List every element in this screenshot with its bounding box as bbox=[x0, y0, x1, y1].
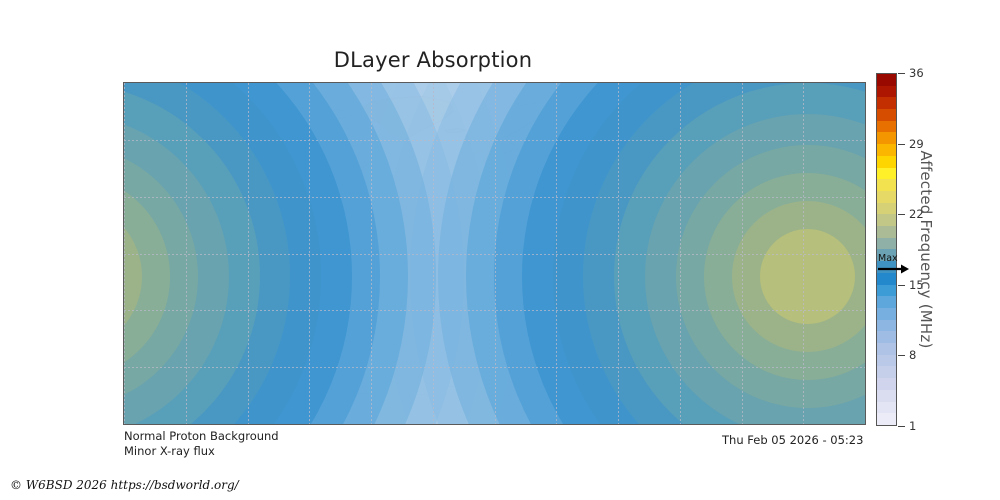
coastline bbox=[838, 320, 861, 341]
colorbar-tick bbox=[898, 214, 905, 215]
footer-credit: © W6BSD 2026 https://bsdworld.org/ bbox=[10, 478, 239, 492]
coastline bbox=[322, 110, 355, 121]
coastline bbox=[690, 244, 713, 265]
page-title: DLayer Absorption bbox=[0, 48, 866, 72]
coastline bbox=[762, 168, 793, 195]
colorbar-segment bbox=[877, 97, 896, 109]
colorbar-segment bbox=[877, 402, 896, 414]
coastline bbox=[517, 102, 540, 106]
colorbar-segment bbox=[877, 203, 896, 215]
colorbar-segment bbox=[877, 214, 896, 226]
colorbar-segment bbox=[877, 156, 896, 168]
colorbar-segment bbox=[877, 320, 896, 332]
coastline bbox=[659, 237, 663, 243]
gridline-meridian bbox=[865, 83, 866, 424]
colorbar-tick bbox=[898, 355, 905, 356]
coastline bbox=[445, 129, 466, 133]
coastline bbox=[474, 149, 482, 155]
colorbar-segment bbox=[877, 366, 896, 378]
colorbar-segment bbox=[877, 191, 896, 203]
coastline bbox=[320, 210, 341, 216]
colorbar-max-marker: Max bbox=[877, 254, 927, 280]
coastline bbox=[604, 113, 623, 119]
colorbar-segment bbox=[877, 144, 896, 156]
colorbar-segment bbox=[877, 238, 896, 250]
coastline bbox=[742, 252, 752, 263]
colorbar-max-label: Max bbox=[877, 254, 927, 264]
colorbar-tick bbox=[898, 73, 905, 74]
coastline bbox=[719, 246, 740, 259]
colorbar-segment bbox=[877, 226, 896, 238]
dlayer-absorption-plot: DLayer Absorption 1815222936 Affected Fr… bbox=[0, 0, 1000, 500]
colorbar-segment bbox=[877, 296, 896, 308]
colorbar[interactable]: 1815222936 bbox=[876, 73, 897, 426]
map-canvas bbox=[124, 83, 865, 424]
coastline bbox=[243, 106, 276, 114]
coastline bbox=[742, 219, 754, 240]
world-map[interactable] bbox=[123, 82, 866, 425]
colorbar-segment bbox=[877, 390, 896, 402]
coastline bbox=[727, 274, 809, 327]
timestamp: Thu Feb 05 2026 - 05:23 bbox=[722, 433, 863, 447]
coastline bbox=[361, 96, 454, 140]
colorbar-gradient bbox=[876, 73, 897, 426]
colorbar-segment bbox=[877, 343, 896, 355]
colorbar-tick bbox=[898, 144, 905, 145]
colorbar-segment bbox=[877, 74, 896, 86]
coastline bbox=[793, 331, 799, 335]
colorbar-segment bbox=[877, 132, 896, 144]
colorbar-segment bbox=[877, 86, 896, 98]
coastline bbox=[173, 216, 175, 218]
landmass-layer bbox=[124, 83, 865, 424]
coastline bbox=[764, 255, 803, 268]
colorbar-segment bbox=[877, 331, 896, 343]
colorbar-tick bbox=[898, 285, 905, 286]
coastline bbox=[484, 144, 496, 159]
proton-background-note: Normal Proton Background bbox=[124, 429, 279, 444]
xray-flux-note: Minor X-ray flux bbox=[124, 444, 279, 459]
arrow-right-icon bbox=[877, 264, 909, 274]
colorbar-segment bbox=[877, 109, 896, 121]
colorbar-segment bbox=[877, 308, 896, 320]
colorbar-segment bbox=[877, 378, 896, 390]
coastline bbox=[280, 104, 319, 114]
colorbar-segment bbox=[877, 179, 896, 191]
coastline bbox=[149, 119, 380, 238]
coastline bbox=[754, 182, 760, 190]
colorbar-segment bbox=[877, 285, 896, 297]
coastline bbox=[342, 218, 354, 220]
colorbar-axis-label: Affected Frequency (MHz) bbox=[915, 75, 935, 424]
colorbar-segment bbox=[877, 355, 896, 367]
colorbar-tick bbox=[898, 426, 905, 427]
coastline bbox=[711, 265, 730, 269]
colorbar-segment bbox=[877, 168, 896, 180]
colorbar-segment bbox=[877, 413, 896, 425]
colorbar-segment bbox=[877, 121, 896, 133]
status-notes: Normal Proton Background Minor X-ray flu… bbox=[124, 429, 279, 459]
